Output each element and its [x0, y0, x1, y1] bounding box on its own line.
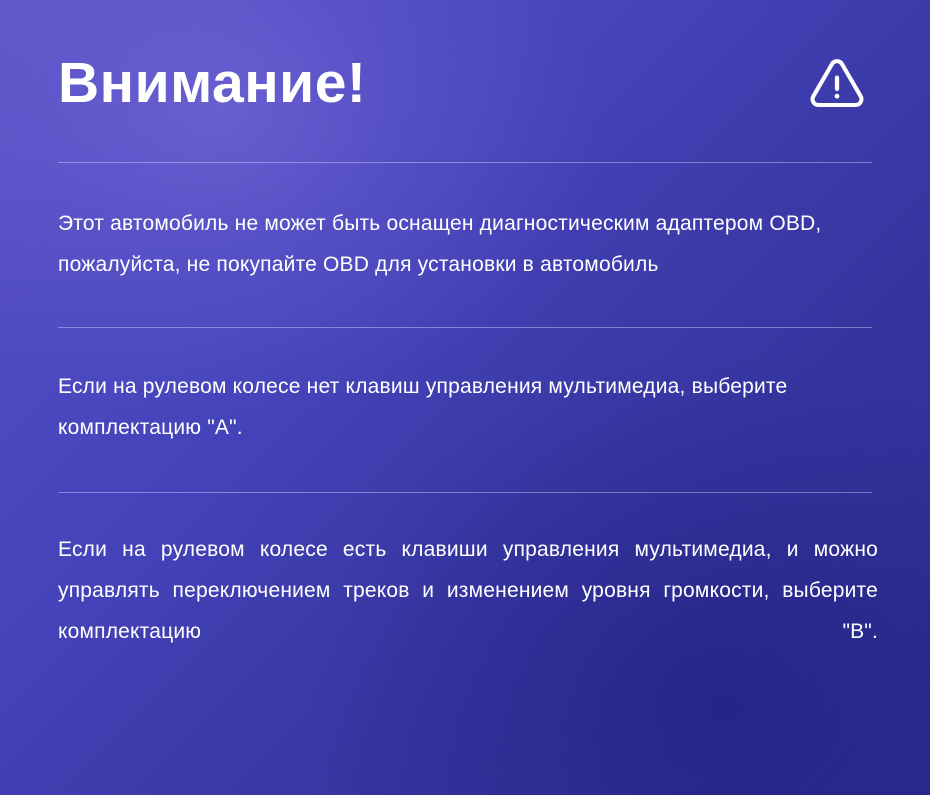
section-obd-warning: Этот автомобиль не может быть оснащен ди…	[58, 163, 872, 327]
warning-notice-card: Внимание! Этот автомобиль не может быть …	[0, 0, 930, 795]
section-text-variant-a: Если на рулевом колесе нет клавиш управл…	[58, 328, 888, 492]
section-text-obd-warning: Этот автомобиль не может быть оснащен ди…	[58, 163, 888, 327]
section-text-variant-b: Если на рулевом колесе есть клавиши упра…	[58, 493, 878, 733]
section-variant-a: Если на рулевом колесе нет клавиш управл…	[58, 328, 872, 492]
header: Внимание!	[58, 0, 872, 162]
section-variant-b: Если на рулевом колесе есть клавиши упра…	[58, 493, 872, 733]
page-title: Внимание!	[58, 55, 366, 112]
warning-triangle-icon	[806, 52, 868, 114]
